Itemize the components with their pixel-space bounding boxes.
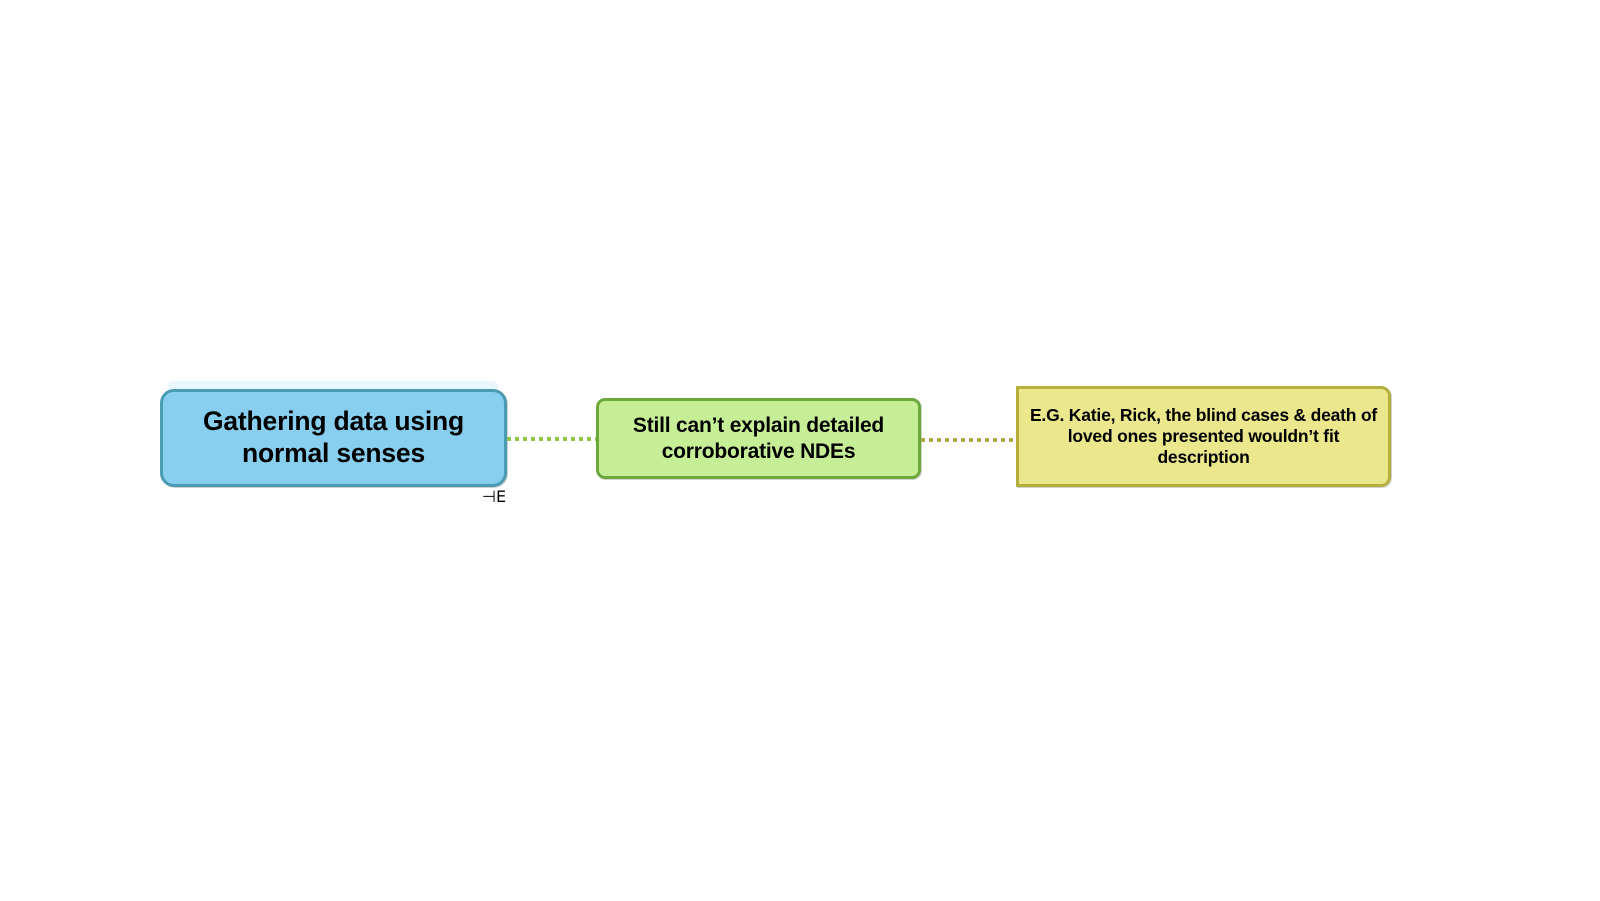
connector-root-to-mid (507, 437, 597, 441)
node-label-leaf: E.G. Katie, Rick, the blind cases & deat… (1029, 405, 1378, 468)
node-label-root: Gathering data using normal senses (171, 406, 496, 470)
node-label-mid: Still can’t explain detailed corroborati… (607, 413, 910, 463)
collapse-branch-marker-icon[interactable]: ⊣E (482, 488, 508, 506)
mindmap-node-still-cant-explain[interactable]: Still can’t explain detailed corroborati… (596, 398, 921, 479)
mindmap-canvas: Gathering data using normal senses Still… (0, 0, 1600, 901)
mindmap-node-gathering-data[interactable]: Gathering data using normal senses (160, 389, 507, 487)
connector-mid-to-leaf (921, 438, 1017, 442)
mindmap-node-examples[interactable]: E.G. Katie, Rick, the blind cases & deat… (1016, 386, 1391, 487)
